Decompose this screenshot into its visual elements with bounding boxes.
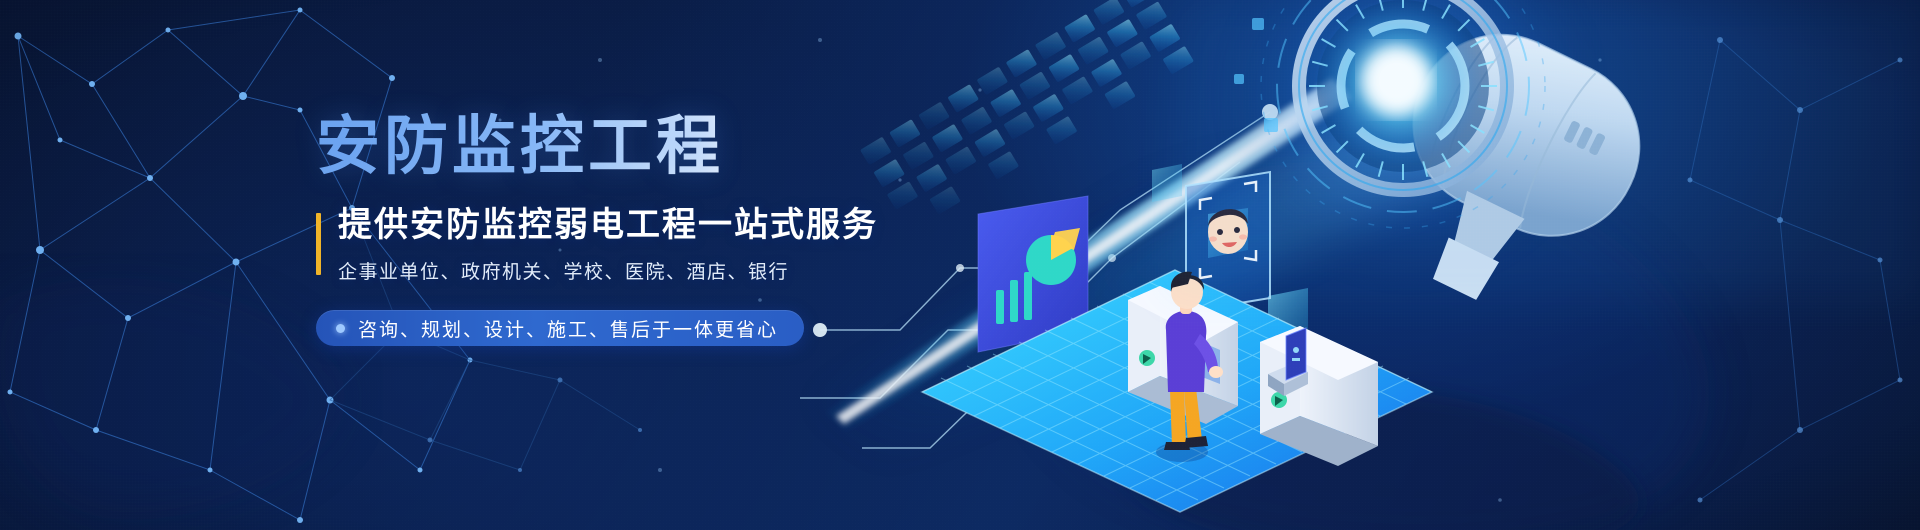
banner-copy: 安防监控工程 提供安防监控弱电工程一站式服务 企事业单位、政府机关、学校、医院、… bbox=[316, 112, 956, 284]
banner-subtitle: 提供安防监控弱电工程一站式服务 bbox=[338, 205, 878, 246]
service-pill[interactable]: 咨询、规划、设计、施工、售后于一体更省心 bbox=[316, 310, 804, 346]
banner-subtitle-group: 提供安防监控弱电工程一站式服务 企事业单位、政府机关、学校、医院、酒店、银行 bbox=[316, 205, 956, 283]
banner-root: 安防监控工程 提供安防监控弱电工程一站式服务 企事业单位、政府机关、学校、医院、… bbox=[0, 0, 1920, 530]
service-pill-text: 咨询、规划、设计、施工、售后于一体更省心 bbox=[358, 315, 778, 342]
background-network-art bbox=[0, 0, 1920, 530]
banner-tagline: 企事业单位、政府机关、学校、医院、酒店、银行 bbox=[338, 257, 878, 284]
banner-title: 安防监控工程 bbox=[316, 112, 956, 181]
accent-bar bbox=[316, 213, 321, 275]
pill-dot-icon bbox=[336, 324, 345, 333]
